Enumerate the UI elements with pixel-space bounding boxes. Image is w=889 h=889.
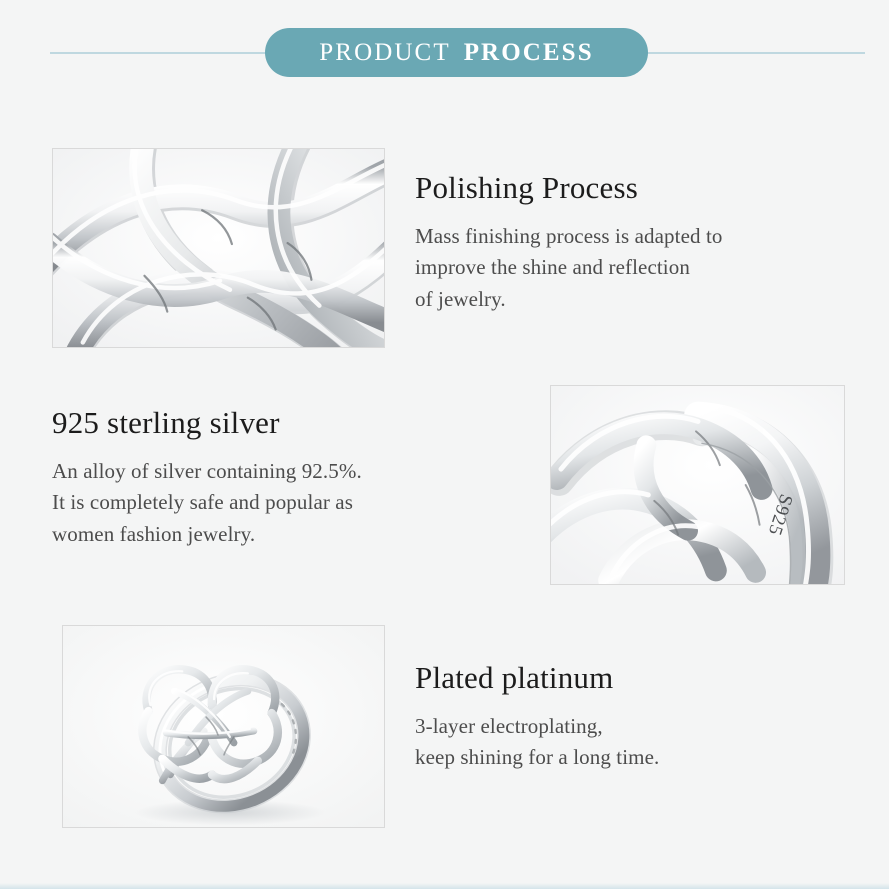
section-body-platinum: 3-layer electroplating, keep shining for… (415, 711, 835, 775)
body-line: Mass finishing process is adapted to (415, 221, 825, 253)
body-line: 3-layer electroplating, (415, 711, 835, 743)
page-title-word-process: PROCESS (464, 39, 594, 66)
photo-polishing-process (52, 148, 385, 348)
photo-plated-platinum-ring (62, 625, 385, 828)
page-header: PRODUCTPROCESS (0, 0, 889, 105)
section-title-platinum: Plated platinum (415, 660, 835, 697)
page-title: PRODUCTPROCESS (319, 40, 593, 65)
body-line: keep shining for a long time. (415, 742, 835, 774)
section-body-polishing: Mass finishing process is adapted to imp… (415, 221, 825, 317)
section-title-polishing: Polishing Process (415, 170, 825, 207)
section-polishing-text: Polishing Process Mass finishing process… (415, 170, 825, 316)
section-platinum-text: Plated platinum 3-layer electroplating, … (415, 660, 835, 774)
body-line: improve the shine and reflection (415, 252, 825, 284)
section-title-silver: 925 sterling silver (52, 405, 492, 442)
bottom-edge-tint (0, 883, 889, 889)
section-body-silver: An alloy of silver containing 92.5%. It … (52, 456, 492, 552)
page-title-banner: PRODUCTPROCESS (265, 28, 648, 77)
photo-sterling-silver-hallmark: S925 (550, 385, 845, 585)
header-rule-right (636, 52, 865, 54)
body-line: An alloy of silver containing 92.5%. (52, 456, 492, 488)
header-rule-left (50, 52, 278, 54)
body-line: It is completely safe and popular as (52, 487, 492, 519)
page-title-word-product: PRODUCT (319, 39, 450, 66)
body-line: of jewelry. (415, 284, 825, 316)
body-line: women fashion jewelry. (52, 519, 492, 551)
section-silver-text: 925 sterling silver An alloy of silver c… (52, 405, 492, 551)
